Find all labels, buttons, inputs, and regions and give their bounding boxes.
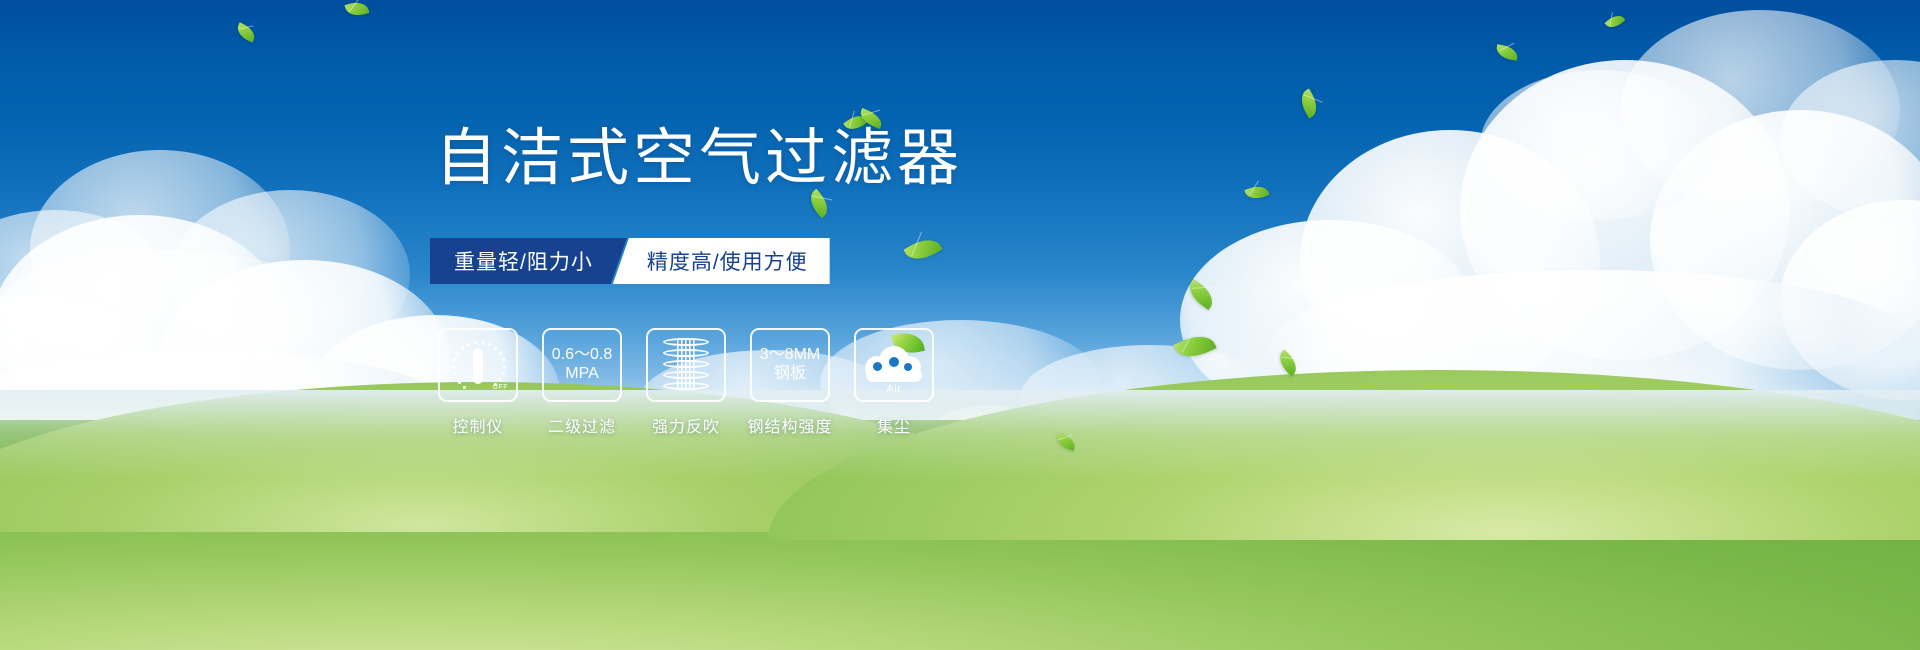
feature-steel-strength[interactable]: 3～8MM 钢板 钢结构强度	[750, 328, 830, 437]
gauge-label-no: NO	[446, 367, 458, 374]
page-title: 自洁式空气过滤器	[435, 128, 963, 190]
feature-icon-box: 0.6～0.8 MPA	[542, 328, 622, 402]
product-banner: 自洁式空气过滤器 重量轻/阻力小 精度高/使用方便	[0, 0, 1920, 650]
feature-controller[interactable]: NO OFF 控制仪	[438, 328, 518, 437]
feature-icon-box: Air	[854, 328, 934, 402]
badge-precision[interactable]: 精度高/使用方便	[613, 238, 830, 284]
feature-label: 钢结构强度	[748, 413, 833, 437]
pressure-unit: MPA	[565, 365, 598, 384]
coil-filter-icon	[663, 338, 709, 392]
badge-lightweight[interactable]: 重量轻/阻力小	[430, 238, 627, 284]
feature-icon-box	[646, 328, 726, 402]
feature-label: 控制仪	[452, 413, 503, 437]
pressure-value: 0.6～0.8	[552, 346, 613, 365]
steel-material: 钢板	[774, 365, 806, 384]
feature-label: 集尘	[877, 413, 911, 437]
feature-blowback[interactable]: 强力反吹	[646, 328, 726, 437]
gauge-needle	[473, 348, 483, 384]
feature-icon-box: 3～8MM 钢板	[750, 328, 830, 402]
feature-dust-collection[interactable]: Air 集尘	[854, 328, 934, 437]
feature-label: 二级过滤	[548, 413, 616, 437]
gauge-icon: NO OFF	[446, 337, 510, 393]
feature-secondary-filter[interactable]: 0.6～0.8 MPA 二级过滤	[542, 328, 622, 437]
cloud-air-icon: Air	[863, 338, 925, 392]
air-label: Air	[863, 383, 925, 395]
banner-content: 自洁式空气过滤器 重量轻/阻力小 精度高/使用方便	[0, 0, 1920, 650]
feature-label: 强力反吹	[652, 413, 720, 437]
steel-thickness: 3～8MM	[760, 346, 820, 365]
title-leaf-icon	[845, 110, 885, 136]
gauge-label-off: OFF	[493, 384, 509, 391]
feature-icon-box: NO OFF	[438, 328, 518, 402]
feature-row: NO OFF 控制仪 0.6～0.8 MPA 二级过滤	[438, 328, 934, 437]
badge-row: 重量轻/阻力小 精度高/使用方便	[430, 238, 830, 284]
